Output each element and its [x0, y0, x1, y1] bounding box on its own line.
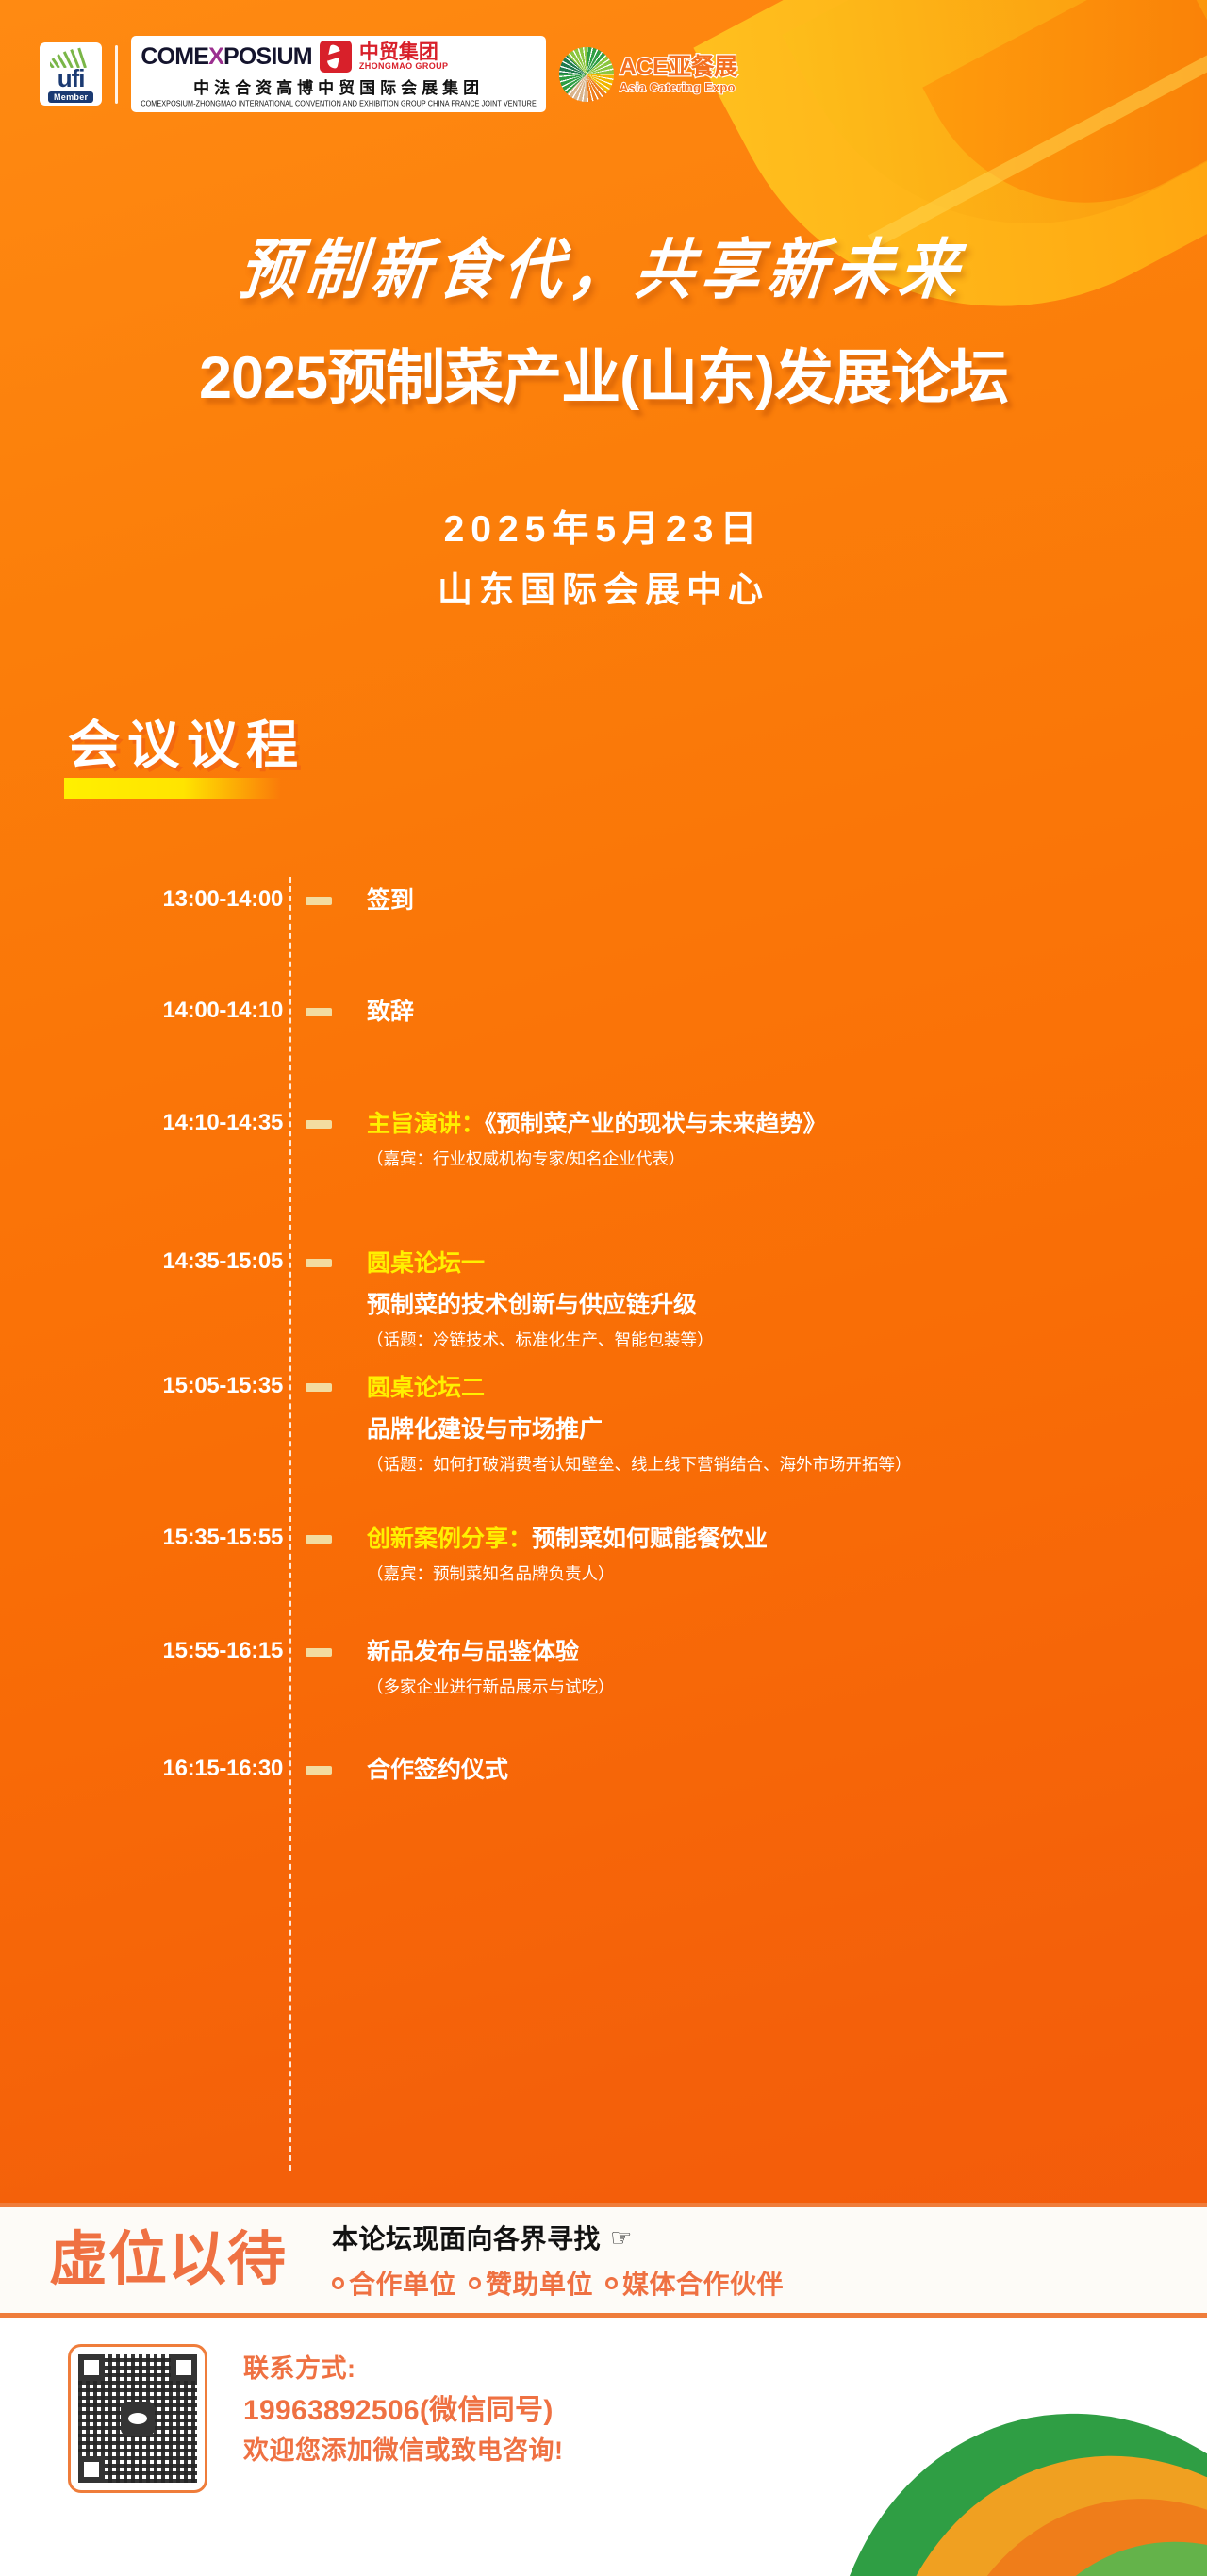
agenda-row: 16:15-16:30合作签约仪式 [0, 1756, 1207, 1785]
zhongmao-cn-name: 中贸集团 [359, 42, 449, 62]
calligraphy-slogan: 预制新食代，共享新未来 [0, 217, 1207, 312]
agenda-heading: 会议议程 [68, 702, 306, 778]
contact-section: 联系方式: 19963892506(微信同号) 欢迎您添加微信或致电咨询! [0, 2318, 1207, 2576]
contact-phone[interactable]: 19963892506(微信同号) [243, 2389, 564, 2432]
qr-eye-top-left [78, 2354, 105, 2381]
agenda-content: 合作签约仪式 [367, 1756, 527, 1785]
timeline-dash-marker [306, 1259, 332, 1267]
sponsor-category-label: 合作单位 [349, 2264, 456, 2302]
timeline-axis [289, 877, 291, 2171]
agenda-title-rest: 《预制菜产业的现状与未来趋势》 [485, 1111, 827, 1137]
swoosh-icon [50, 47, 91, 68]
ufi-member-badge: Member [48, 91, 93, 103]
agenda-note: （话题：如何打破消费者认知壁垒、线上线下营销结合、海外市场开拓等） [367, 1454, 912, 1476]
agenda-time: 15:05-15:35 [0, 1373, 283, 1399]
poster-canvas: ufi Member COMEXPOSIUM 中贸集团 ZHONGMAO GRO… [0, 0, 1207, 2576]
pointing-hand-icon: ☞ [610, 2223, 633, 2253]
agenda-subtitle: 品牌化建设与市场推广 [367, 1414, 912, 1445]
zhongmao-emblem-icon [320, 41, 352, 73]
qr-eye-top-right [171, 2354, 197, 2381]
agenda-title-highlight: 主旨演讲： [367, 1111, 485, 1137]
sponsor-category-label: 赞助单位 [486, 2264, 593, 2302]
agenda-content: 致辞 [367, 998, 433, 1027]
contact-cta: 欢迎您添加微信或致电咨询! [243, 2432, 564, 2471]
ufi-member-logo: ufi Member [40, 42, 102, 105]
timeline-dash-marker [306, 1008, 332, 1016]
agenda-time: 15:55-16:15 [0, 1638, 283, 1664]
agenda-row: 15:55-16:15新品发布与品鉴体验（多家企业进行新品展示与试吃） [0, 1638, 1207, 1698]
bullet-icon [469, 2277, 481, 2289]
sponsor-seeking-line: 本论坛现面向各界寻找 ☞ [332, 2219, 784, 2256]
agenda-timeline: 13:00-14:00签到14:00-14:10致辞14:10-14:35主旨演… [0, 877, 1207, 2171]
comex-left: COME [141, 43, 208, 70]
ace-expo-logo: ACE亚餐展 Asia Catering Expo [559, 47, 737, 102]
agenda-row: 14:10-14:35主旨演讲：《预制菜产业的现状与未来趋势》（嘉宾：行业权威机… [0, 1110, 1207, 1170]
agenda-session-label: 圆桌论坛二 [367, 1373, 912, 1404]
ufi-wordmark: ufi [58, 68, 85, 89]
agenda-note: （嘉宾：预制菜知名品牌负责人） [367, 1563, 768, 1585]
decorative-wave-orange [881, 2451, 1207, 2576]
agenda-title: 签到 [367, 886, 414, 916]
timeline-dash-marker [306, 1648, 332, 1657]
timeline-dash-marker [306, 1120, 332, 1129]
contact-text-block: 联系方式: 19963892506(微信同号) 欢迎您添加微信或致电咨询! [243, 2350, 564, 2471]
agenda-content: 主旨演讲：《预制菜产业的现状与未来趋势》（嘉宾：行业权威机构专家/知名企业代表） [367, 1110, 846, 1170]
agenda-row: 15:05-15:35圆桌论坛二品牌化建设与市场推广（话题：如何打破消费者认知壁… [0, 1373, 1207, 1476]
sponsor-category: 合作单位 [332, 2264, 456, 2302]
agenda-subtitle: 预制菜的技术创新与供应链升级 [367, 1290, 714, 1321]
agenda-time: 14:00-14:10 [0, 998, 283, 1024]
ace-cn-name: ACE亚餐展 [620, 56, 737, 79]
agenda-title-rest: 预制菜如何赋能餐饮业 [532, 1526, 768, 1552]
pinwheel-icon [559, 47, 614, 102]
agenda-title: 主旨演讲：《预制菜产业的现状与未来趋势》 [367, 1110, 827, 1139]
agenda-time: 16:15-16:30 [0, 1756, 283, 1782]
agenda-title-text: 签到 [367, 887, 414, 914]
agenda-title: 致辞 [367, 998, 414, 1027]
timeline-dash-marker [306, 897, 332, 905]
timeline-dash-marker [306, 1535, 332, 1544]
bullet-icon [605, 2277, 618, 2289]
agenda-title-text: 合作签约仪式 [367, 1757, 508, 1783]
agenda-content: 签到 [367, 886, 433, 916]
agenda-title: 新品发布与品鉴体验 [367, 1638, 615, 1667]
timeline-dash-marker [306, 1383, 332, 1392]
agenda-title: 合作签约仪式 [367, 1756, 508, 1785]
agenda-content: 圆桌论坛二品牌化建设与市场推广（话题：如何打破消费者认知壁垒、线上线下营销结合、… [367, 1373, 931, 1476]
agenda-heading-underline [64, 778, 281, 799]
agenda-note: （嘉宾：行业权威机构专家/知名企业代表） [367, 1148, 827, 1170]
agenda-session-label: 圆桌论坛一 [367, 1248, 714, 1280]
contact-label: 联系方式: [243, 2350, 564, 2389]
agenda-note: （话题：冷链技术、标准化生产、智能包装等） [367, 1329, 714, 1351]
sponsor-categories: 合作单位赞助单位媒体合作伙伴 [332, 2264, 784, 2302]
decorative-wave-green [762, 2356, 1207, 2576]
agenda-title-text: 新品发布与品鉴体验 [367, 1639, 579, 1665]
agenda-time: 15:35-15:55 [0, 1525, 283, 1551]
agenda-title-highlight: 创新案例分享： [367, 1526, 532, 1552]
sponsor-category-label: 媒体合作伙伴 [622, 2264, 784, 2302]
zhongmao-en-name: ZHONGMAO GROUP [359, 62, 449, 71]
agenda-title: 创新案例分享：预制菜如何赋能餐饮业 [367, 1525, 768, 1554]
agenda-note: （多家企业进行新品展示与试吃） [367, 1676, 615, 1698]
agenda-time: 13:00-14:00 [0, 886, 283, 913]
bullet-icon [332, 2277, 344, 2289]
agenda-row: 15:35-15:55创新案例分享：预制菜如何赋能餐饮业（嘉宾：预制菜知名品牌负… [0, 1525, 1207, 1585]
comexposium-wordmark: COMEXPOSIUM [141, 45, 312, 69]
agenda-time: 14:10-14:35 [0, 1110, 283, 1136]
comexposium-zhongmao-logo: COMEXPOSIUM 中贸集团 ZHONGMAO GROUP 中法合资高博中贸… [131, 36, 546, 112]
timeline-dash-marker [306, 1766, 332, 1775]
event-date: 2025年5月23日 [0, 500, 1207, 553]
logo-bar: ufi Member COMEXPOSIUM 中贸集团 ZHONGMAO GRO… [40, 36, 1167, 112]
agenda-content: 新品发布与品鉴体验（多家企业进行新品展示与试吃） [367, 1638, 634, 1698]
qr-eye-bottom-left [78, 2456, 105, 2483]
event-venue: 山东国际会展中心 [0, 561, 1207, 612]
agenda-row: 13:00-14:00签到 [0, 886, 1207, 916]
joint-venture-en: COMEXPOSIUM-ZHONGMAO INTERNATIONAL CONVE… [141, 98, 537, 107]
agenda-time: 14:35-15:05 [0, 1248, 283, 1275]
sponsor-headline: 虚位以待 [49, 2231, 287, 2289]
wechat-qr-icon[interactable] [68, 2344, 207, 2493]
logo-divider [115, 45, 118, 104]
joint-venture-cn: 中法合资高博中贸国际会展集团 [141, 74, 537, 98]
agenda-content: 圆桌论坛一预制菜的技术创新与供应链升级（话题：冷链技术、标准化生产、智能包装等） [367, 1248, 733, 1351]
wechat-logo-icon [121, 2402, 155, 2436]
comex-x: X [208, 43, 223, 70]
agenda-content: 创新案例分享：预制菜如何赋能餐饮业（嘉宾：预制菜知名品牌负责人） [367, 1525, 786, 1585]
decorative-wave-yellow [821, 2403, 1207, 2576]
sponsor-category: 媒体合作伙伴 [605, 2264, 784, 2302]
comex-right: POSIUM [223, 43, 312, 70]
sponsor-call-strip: 虚位以待 本论坛现面向各界寻找 ☞ 合作单位赞助单位媒体合作伙伴 [0, 2203, 1207, 2318]
agenda-row: 14:35-15:05圆桌论坛一预制菜的技术创新与供应链升级（话题：冷链技术、标… [0, 1248, 1207, 1351]
ace-en-name: Asia Catering Expo [620, 81, 737, 93]
sponsor-seeking-text: 本论坛现面向各界寻找 [332, 2219, 601, 2256]
sponsor-category: 赞助单位 [469, 2264, 593, 2302]
agenda-title-text: 致辞 [367, 999, 414, 1025]
decorative-wave-green-2 [949, 2500, 1207, 2576]
agenda-row: 14:00-14:10致辞 [0, 998, 1207, 1027]
page-title: 2025预制菜产业(山东)发展论坛 [0, 330, 1207, 416]
